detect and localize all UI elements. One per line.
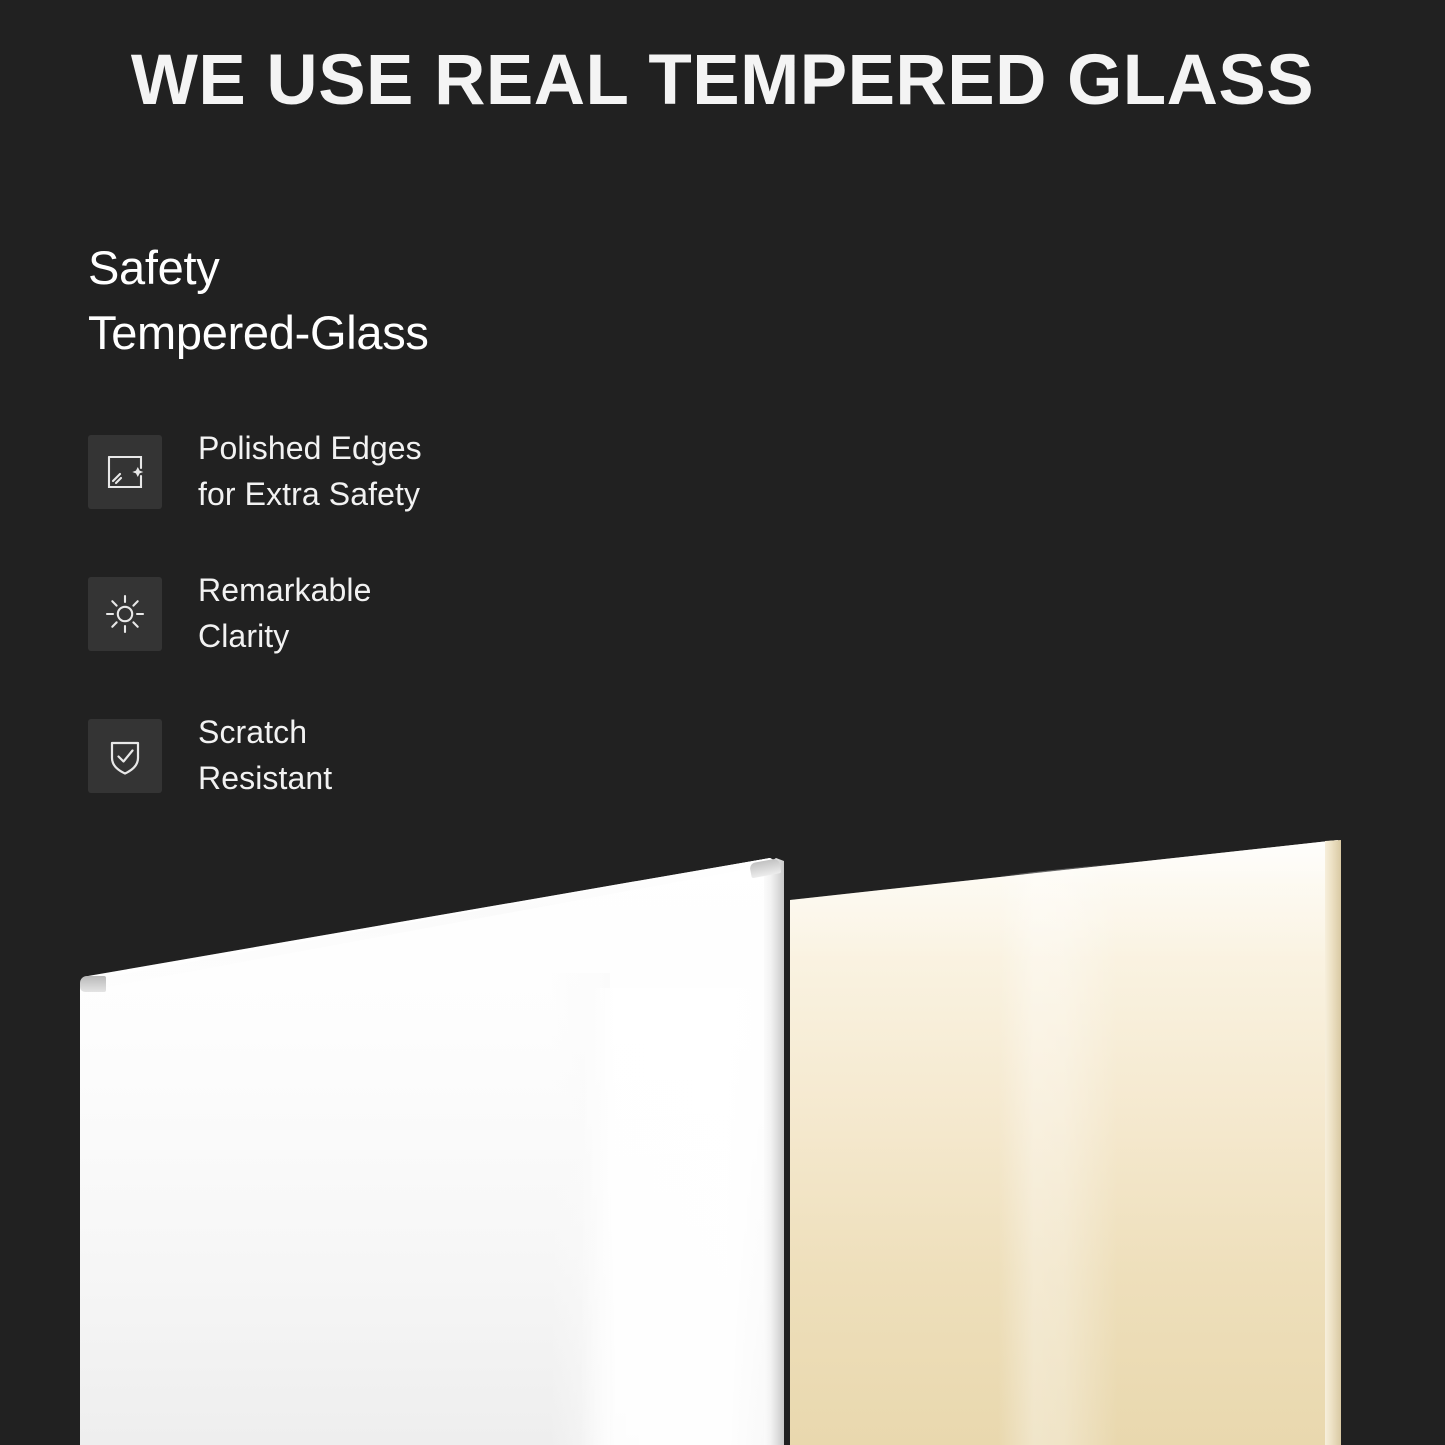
column-title-tempered-glass: Safety Tempered-Glass (88, 236, 561, 366)
plexiglass-panel-reflection (998, 840, 1118, 1445)
shield-check-icon (88, 719, 162, 793)
feature-label-scratch-resistant: Scratch Resistant (198, 710, 332, 801)
plexiglass-panel-edge (1325, 840, 1341, 1445)
plexiglass-panel (790, 840, 1350, 1445)
tempered-glass-panel (80, 858, 792, 1445)
feature-label-polished-edges: Polished Edges for Extra Safety (198, 426, 422, 517)
feature-list-tempered-glass: Polished Edges for Extra Safety (88, 424, 561, 804)
column-tempered-glass: Safety Tempered-Glass Polished Edges for… (0, 236, 561, 836)
page-title: WE USE REAL TEMPERED GLASS (0, 44, 1445, 119)
feature-scratch-resistant: Scratch Resistant (88, 708, 561, 804)
feature-label-remarkable-clarity: Remarkable Clarity (198, 568, 372, 659)
comparison-columns: Safety Tempered-Glass Polished Edges for… (0, 236, 1445, 836)
sun-brightness-icon (88, 577, 162, 651)
tempered-glass-panel-corner-left (80, 976, 106, 992)
feature-polished-edges: Polished Edges for Extra Safety (88, 424, 561, 520)
tempered-glass-panel-reflection (580, 988, 776, 1445)
feature-remarkable-clarity: Remarkable Clarity (88, 566, 561, 662)
polished-edge-sparkle-icon (88, 435, 162, 509)
column-other-plexiglass: Other Plexiglass Not Eco (561, 236, 1445, 836)
tempered-glass-panel-edge (764, 858, 784, 1445)
glass-comparison-artwork (0, 840, 1445, 1445)
